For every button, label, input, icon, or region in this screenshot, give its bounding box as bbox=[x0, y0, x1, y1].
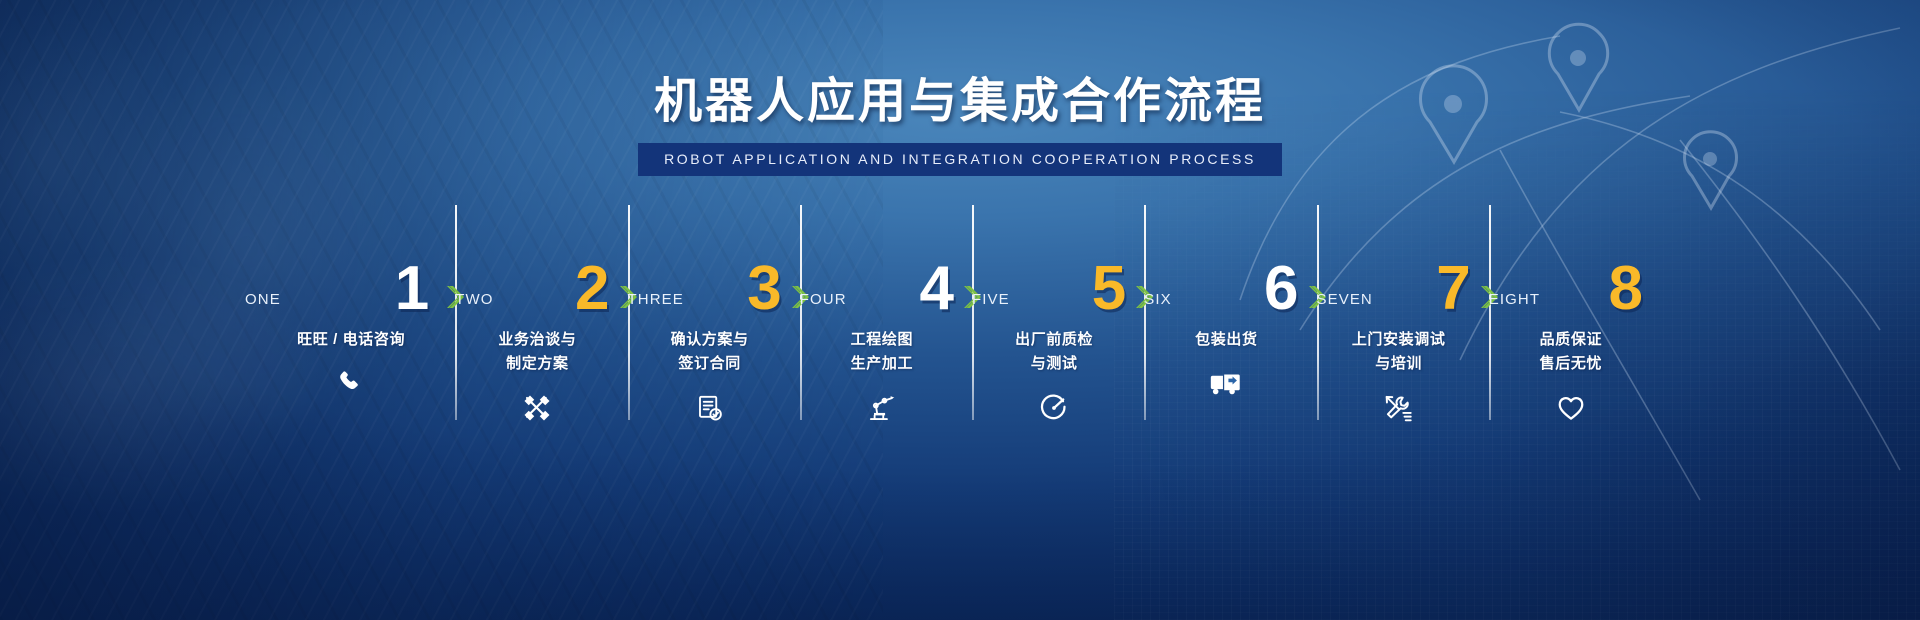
page-subtitle: ROBOT APPLICATION AND INTEGRATION COOPER… bbox=[664, 151, 1256, 167]
contract-check-icon bbox=[695, 393, 725, 423]
step-ordinal: SIX bbox=[1144, 291, 1171, 308]
step-label: 业务治谈与 制定方案 bbox=[455, 328, 627, 377]
step-ordinal: FIVE bbox=[972, 291, 1010, 308]
step-icon bbox=[800, 393, 972, 428]
step-head: SEVEN 7 bbox=[1317, 250, 1489, 312]
step-ordinal: THREE bbox=[628, 291, 684, 308]
process-step-8[interactable]: EIGHT 8 品质保证 售后无忧 bbox=[1489, 250, 1661, 445]
step-label: 旺旺 / 电话咨询 bbox=[283, 328, 455, 352]
process-step-1[interactable]: ONE 1 旺旺 / 电话咨询 bbox=[283, 250, 455, 445]
step-number: 7 bbox=[1436, 258, 1470, 320]
process-step-2[interactable]: TWO 2 业务治谈与 制定方案 bbox=[455, 250, 627, 445]
ruler-pencil-icon bbox=[522, 393, 552, 423]
step-divider bbox=[1144, 205, 1146, 420]
process-step-3[interactable]: THREE 3 确认方案与 签订合同 bbox=[628, 250, 800, 445]
step-label-line1: 品质保证 bbox=[1489, 328, 1653, 352]
step-icon bbox=[1489, 393, 1661, 428]
step-divider bbox=[1317, 205, 1319, 420]
step-icon bbox=[972, 393, 1144, 428]
heart-icon bbox=[1556, 393, 1586, 423]
step-label: 上门安装调试 与培训 bbox=[1317, 328, 1489, 377]
phone-icon bbox=[335, 368, 365, 398]
step-head: FOUR 4 bbox=[800, 250, 972, 312]
process-step-7[interactable]: SEVEN 7 上门安装调试 与培训 bbox=[1317, 250, 1489, 445]
step-label-line2: 生产加工 bbox=[800, 352, 964, 376]
step-label-line2: 与培训 bbox=[1317, 352, 1481, 376]
step-label-line1: 工程绘图 bbox=[800, 328, 964, 352]
step-label-line2: 售后无忧 bbox=[1489, 352, 1653, 376]
step-divider bbox=[628, 205, 630, 420]
step-number: 2 bbox=[575, 258, 609, 320]
step-icon bbox=[628, 393, 800, 428]
step-label-line2: 与测试 bbox=[972, 352, 1136, 376]
step-label-line1: 业务治谈与 bbox=[455, 328, 619, 352]
step-label-line1: 出厂前质检 bbox=[972, 328, 1136, 352]
step-number: 3 bbox=[747, 258, 781, 320]
gauge-icon bbox=[1039, 393, 1069, 423]
step-label: 工程绘图 生产加工 bbox=[800, 328, 972, 377]
step-divider bbox=[455, 205, 457, 420]
step-label: 包装出货 bbox=[1144, 328, 1316, 352]
step-label: 出厂前质检 与测试 bbox=[972, 328, 1144, 377]
step-icon bbox=[455, 393, 627, 428]
step-label-line1: 确认方案与 bbox=[628, 328, 792, 352]
process-banner: 机器人应用与集成合作流程 ROBOT APPLICATION AND INTEG… bbox=[0, 0, 1920, 620]
step-number: 4 bbox=[920, 258, 954, 320]
step-number: 6 bbox=[1264, 258, 1298, 320]
step-divider bbox=[800, 205, 802, 420]
step-ordinal: EIGHT bbox=[1489, 291, 1540, 308]
step-divider bbox=[1489, 205, 1491, 420]
delivery-truck-icon bbox=[1209, 368, 1243, 398]
step-head: EIGHT 8 bbox=[1489, 250, 1661, 312]
step-head: FIVE 5 bbox=[972, 250, 1144, 312]
step-label: 确认方案与 签订合同 bbox=[628, 328, 800, 377]
step-label: 品质保证 售后无忧 bbox=[1489, 328, 1661, 377]
step-label-line1: 旺旺 / 电话咨询 bbox=[283, 328, 419, 352]
step-label-line2: 制定方案 bbox=[455, 352, 619, 376]
step-icon bbox=[1144, 368, 1316, 403]
step-number: 1 bbox=[395, 258, 429, 320]
step-ordinal: FOUR bbox=[800, 291, 847, 308]
step-number: 5 bbox=[1092, 258, 1126, 320]
step-head: SIX 6 bbox=[1144, 250, 1316, 312]
step-icon bbox=[1317, 393, 1489, 428]
step-head: TWO 2 bbox=[455, 250, 627, 312]
step-ordinal: SEVEN bbox=[1317, 291, 1373, 308]
subtitle-bar: ROBOT APPLICATION AND INTEGRATION COOPER… bbox=[638, 143, 1282, 176]
step-ordinal: ONE bbox=[245, 291, 281, 308]
step-head: THREE 3 bbox=[628, 250, 800, 312]
step-number: 8 bbox=[1609, 258, 1643, 320]
step-label-line2: 签订合同 bbox=[628, 352, 792, 376]
process-step-5[interactable]: FIVE 5 出厂前质检 与测试 bbox=[972, 250, 1144, 445]
step-label-line1: 包装出货 bbox=[1144, 328, 1308, 352]
page-title: 机器人应用与集成合作流程 bbox=[0, 78, 1920, 126]
process-step-4[interactable]: FOUR 4 工程绘图 生产加工 bbox=[800, 250, 972, 445]
step-icon bbox=[283, 368, 455, 403]
step-label-line1: 上门安装调试 bbox=[1317, 328, 1481, 352]
step-divider bbox=[972, 205, 974, 420]
banner-header: 机器人应用与集成合作流程 ROBOT APPLICATION AND INTEG… bbox=[0, 78, 1920, 176]
process-step-list: ONE 1 旺旺 / 电话咨询 TWO 2 bbox=[283, 250, 1661, 445]
tools-icon bbox=[1383, 393, 1415, 423]
process-step-6[interactable]: SIX 6 包装出货 bbox=[1144, 250, 1316, 445]
robot-arm-icon bbox=[866, 393, 898, 423]
step-ordinal: TWO bbox=[455, 291, 493, 308]
step-head: ONE 1 bbox=[283, 250, 455, 312]
